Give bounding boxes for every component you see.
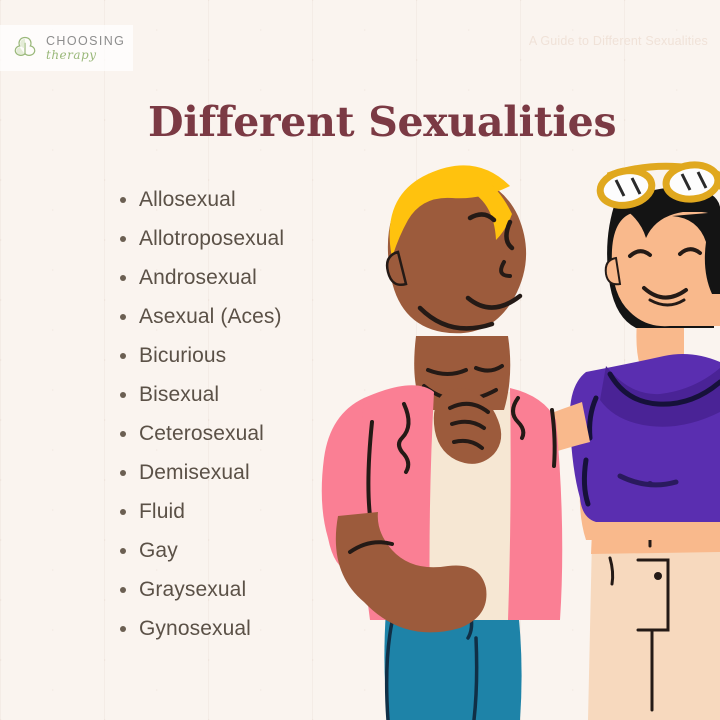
list-item: Demisexual [118,453,284,492]
list-item: Asexual (Aces) [118,297,284,336]
logo-wordmark: CHOOSING therapy [46,35,125,61]
two-people-couple-illustration [320,160,720,720]
list-item: Bicurious [118,336,284,375]
list-item: Allotroposexual [118,219,284,258]
page-title: Different Sexualities [148,98,616,146]
list-item: Allosexual [118,180,284,219]
logo-brand-sub: therapy [46,49,125,61]
list-item: Androsexual [118,258,284,297]
left-person [322,165,563,720]
list-item: Bisexual [118,375,284,414]
leaf-flower-icon [10,33,40,63]
brand-logo[interactable]: CHOOSING therapy [0,25,133,71]
list-item: Ceterosexual [118,414,284,453]
list-item: Fluid [118,492,284,531]
list-item: Graysexual [118,570,284,609]
header-caption: A Guide to Different Sexualities [529,34,708,48]
logo-brand-name: CHOOSING [46,35,125,48]
sexualities-list: Allosexual Allotroposexual Androsexual A… [118,180,284,648]
poster-canvas: CHOOSING therapy A Guide to Different Se… [0,0,720,720]
list-item: Gay [118,531,284,570]
list-item: Gynosexual [118,609,284,648]
